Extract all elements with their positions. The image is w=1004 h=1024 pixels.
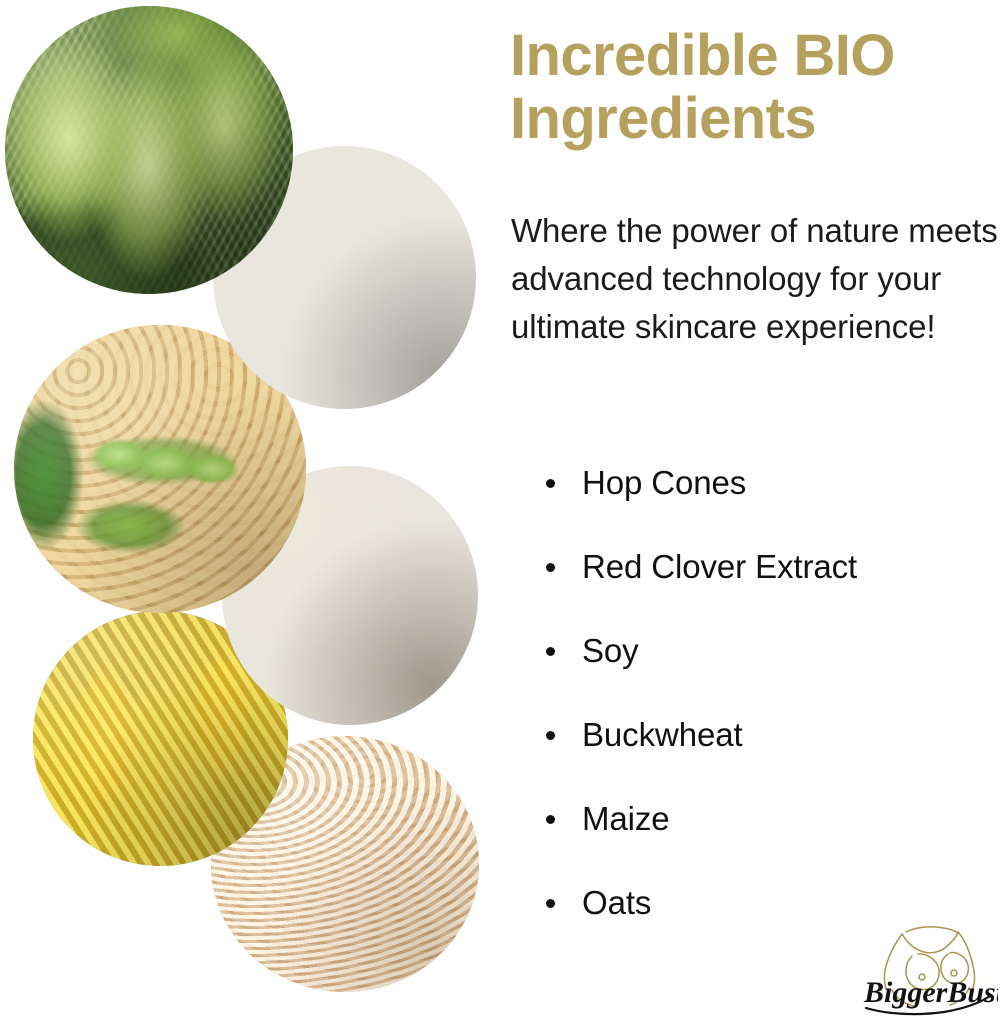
list-item: Buckwheat	[540, 712, 990, 796]
content-column: Incredible BIO Ingredients Where the pow…	[510, 0, 1004, 1024]
bullet-dot-icon	[546, 731, 555, 740]
list-item-label: Buckwheat	[582, 716, 743, 753]
list-item-label: Hop Cones	[582, 464, 746, 501]
bullet-dot-icon	[546, 479, 555, 488]
list-item-label: Red Clover Extract	[582, 548, 857, 585]
hop-cones-photo	[5, 6, 293, 294]
bullet-dot-icon	[546, 899, 555, 908]
hop-cones-photo-texture	[5, 6, 293, 294]
bullet-dot-icon	[546, 815, 555, 824]
tagline: Where the power of nature meets advanced…	[511, 207, 1003, 351]
list-item: Maize	[540, 796, 990, 880]
list-item: Hop Cones	[540, 460, 990, 544]
brand-wordmark: BiggerBust	[863, 976, 998, 1014]
ingredient-photo-collage	[0, 0, 500, 1024]
brand-wordmark-text: BiggerBust	[863, 976, 998, 1009]
brand-logo: BiggerBust	[862, 922, 998, 1020]
list-item: Red Clover Extract	[540, 544, 990, 628]
bullet-dot-icon	[546, 647, 555, 656]
page-title: Incredible BIO Ingredients	[510, 24, 1002, 150]
list-item: Soy	[540, 628, 990, 712]
list-item-label: Maize	[582, 800, 670, 837]
ingredient-list: Hop Cones Red Clover Extract Soy Buckwhe…	[540, 460, 990, 964]
list-item-label: Soy	[582, 632, 639, 669]
bullet-dot-icon	[546, 563, 555, 572]
poster-root: Incredible BIO Ingredients Where the pow…	[0, 0, 1004, 1024]
brand-logo-svg: BiggerBust	[862, 922, 998, 1020]
list-item-label: Oats	[582, 884, 651, 921]
